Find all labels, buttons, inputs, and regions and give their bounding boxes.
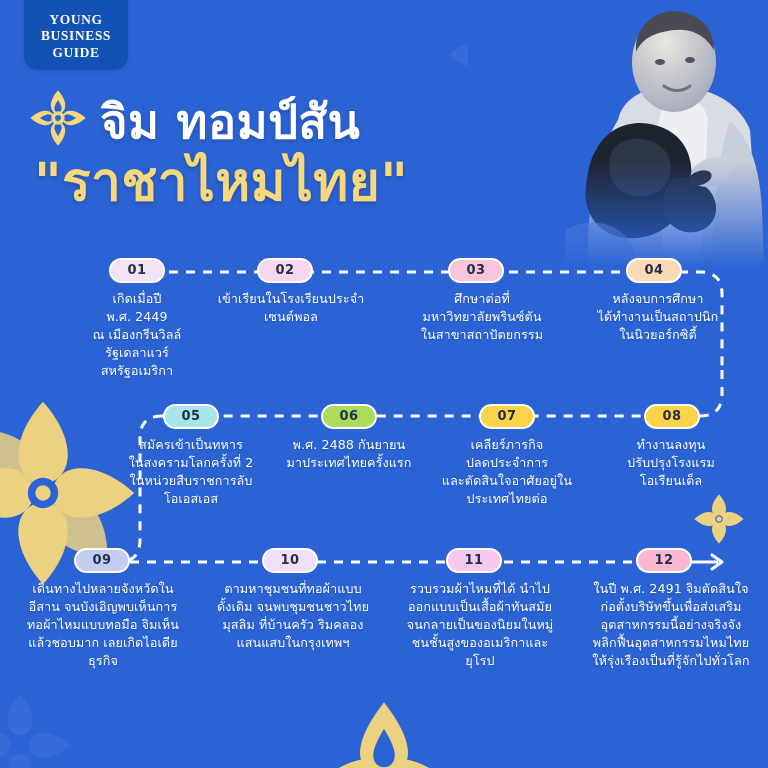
step-text-line: และตัดสินใจอาศัยอยู่ใน xyxy=(424,472,590,490)
step-text-line: ประเทศไทยต่อ xyxy=(424,490,590,508)
step-text-07: เคลียร์ภารกิจ ปลดประจำการ และตัดสินใจอาศ… xyxy=(424,436,590,508)
step-text-line: หลังจบการศึกษา xyxy=(578,290,738,308)
step-text-09: เดินทางไปหลายจังหวัดใน อีสาน จนบังเอิญพบ… xyxy=(14,580,192,669)
step-text-line: ในหน่วยสืบราชการลับ xyxy=(110,472,272,490)
step-text-03: ศึกษาต่อที่ มหาวิทยาลัยพรินซ์ตัน ในสาขาส… xyxy=(398,290,566,344)
step-badge-12[interactable]: 12 xyxy=(636,548,692,573)
step-text-line: สหรัฐอเมริกา xyxy=(62,362,212,380)
step-text-02: เข้าเรียนในโรงเรียนประจำ เซนต์พอล xyxy=(208,290,374,326)
step-text-line: อุตสาหกรรมนี้อย่างจริงจัง xyxy=(578,616,764,634)
step-text-line: ในปี พ.ศ. 2491 จิมตัดสินใจ xyxy=(578,580,764,598)
step-text-line: พ.ศ. 2449 xyxy=(62,308,212,326)
step-text-06: พ.ศ. 2488 กันยายน มาประเทศไทยครั้งแรก xyxy=(268,436,430,472)
step-badge-01[interactable]: 01 xyxy=(109,258,165,283)
step-text-line: ปรับปรุงโรงแรม xyxy=(596,454,746,472)
step-text-line: เข้าเรียนในโรงเรียนประจำ xyxy=(208,290,374,308)
step-text-line: รัฐเดลาแวร์ xyxy=(62,344,212,362)
step-text-line: สมัครเข้าเป็นทหาร xyxy=(110,436,272,454)
step-text-line: เซนต์พอล xyxy=(208,308,374,326)
step-text-line: ดั้งเดิม จนพบชุมชนชาวไทย xyxy=(204,598,382,616)
step-badge-04[interactable]: 04 xyxy=(626,258,682,283)
step-text-line: เคลียร์ภารกิจ xyxy=(424,436,590,454)
step-text-12: ในปี พ.ศ. 2491 จิมตัดสินใจ ก่อตั้งบริษัท… xyxy=(578,580,764,669)
step-text-line: พลิกฟื้นอุตสาหกรรมไหมไทย xyxy=(578,634,764,652)
step-text-line: ได้ทำงานเป็นสถาปนิก xyxy=(578,308,738,326)
step-badge-11[interactable]: 11 xyxy=(446,548,502,573)
step-badge-06[interactable]: 06 xyxy=(321,404,377,429)
step-text-line: ในสงครามโลกครั้งที่ 2 xyxy=(110,454,272,472)
step-text-line: โอเอสเอส xyxy=(110,490,272,508)
step-text-line: ทอผ้าไหมแบบทอมือ จิมเห็น xyxy=(14,616,192,634)
step-badge-02[interactable]: 02 xyxy=(257,258,313,283)
step-text-line: ชนชั้นสูงของอเมริกาและ xyxy=(390,634,570,652)
step-badge-07[interactable]: 07 xyxy=(479,404,535,429)
step-text-line: ในนิวยอร์กซิตี้ xyxy=(578,326,738,344)
step-text-line: ออกแบบเป็นเสื้อผ้าทันสมัย xyxy=(390,598,570,616)
step-text-line: รวบรวมผ้าไหมที่ได้ นำไป xyxy=(390,580,570,598)
step-text-line: เดินทางไปหลายจังหวัดใน xyxy=(14,580,192,598)
step-text-10: ตามหาชุมชนที่ทอผ้าแบบ ดั้งเดิม จนพบชุมชน… xyxy=(204,580,382,652)
step-badge-10[interactable]: 10 xyxy=(262,548,318,573)
infographic-canvas: YOUNG BUSINESS GUIDE จิม ทอมป์สัน "ราชาไ… xyxy=(0,0,768,768)
step-text-line: อีสาน จนบังเอิญพบเห็นการ xyxy=(14,598,192,616)
step-text-line: มาประเทศไทยครั้งแรก xyxy=(268,454,430,472)
step-text-line: แล้วชอบมาก เลยเกิดไอเดีย xyxy=(14,634,192,652)
step-badge-09[interactable]: 09 xyxy=(74,548,130,573)
step-text-line: โอเรียนเต็ล xyxy=(596,472,746,490)
step-text-line: ธุรกิจ xyxy=(14,652,192,670)
step-text-line: เกิดเมื่อปี xyxy=(62,290,212,308)
step-text-line: มุสลิม ที่บ้านครัว ริมคลอง xyxy=(204,616,382,634)
step-badge-08[interactable]: 08 xyxy=(644,404,700,429)
step-text-line: ให้รุ่งเรืองเป็นที่รู้จักไปทั่วโลก xyxy=(578,652,764,670)
step-text-line: ยุโรป xyxy=(390,652,570,670)
step-text-08: ทำงานลงทุน ปรับปรุงโรงแรม โอเรียนเต็ล xyxy=(596,436,746,490)
step-text-line: จนกลายเป็นของนิยมในหมู่ xyxy=(390,616,570,634)
step-text-line: พ.ศ. 2488 กันยายน xyxy=(268,436,430,454)
step-text-05: สมัครเข้าเป็นทหาร ในสงครามโลกครั้งที่ 2 … xyxy=(110,436,272,508)
step-text-04: หลังจบการศึกษา ได้ทำงานเป็นสถาปนิก ในนิว… xyxy=(578,290,738,344)
step-badge-05[interactable]: 05 xyxy=(163,404,219,429)
step-text-11: รวบรวมผ้าไหมที่ได้ นำไป ออกแบบเป็นเสื้อผ… xyxy=(390,580,570,669)
step-text-line: ศึกษาต่อที่ xyxy=(398,290,566,308)
step-text-line: ณ เมืองกรีนวิลล์ xyxy=(62,326,212,344)
step-text-line: ตามหาชุมชนที่ทอผ้าแบบ xyxy=(204,580,382,598)
step-text-line: แสนแสบในกรุงเทพฯ xyxy=(204,634,382,652)
step-text-01: เกิดเมื่อปี พ.ศ. 2449 ณ เมืองกรีนวิลล์ ร… xyxy=(62,290,212,379)
step-text-line: ในสาขาสถาปัตยกรรม xyxy=(398,326,566,344)
step-badge-03[interactable]: 03 xyxy=(448,258,504,283)
step-text-line: ปลดประจำการ xyxy=(424,454,590,472)
step-text-line: ก่อตั้งบริษัทขึ้นเพื่อส่งเสริม xyxy=(578,598,764,616)
step-text-line: ทำงานลงทุน xyxy=(596,436,746,454)
step-text-line: มหาวิทยาลัยพรินซ์ตัน xyxy=(398,308,566,326)
